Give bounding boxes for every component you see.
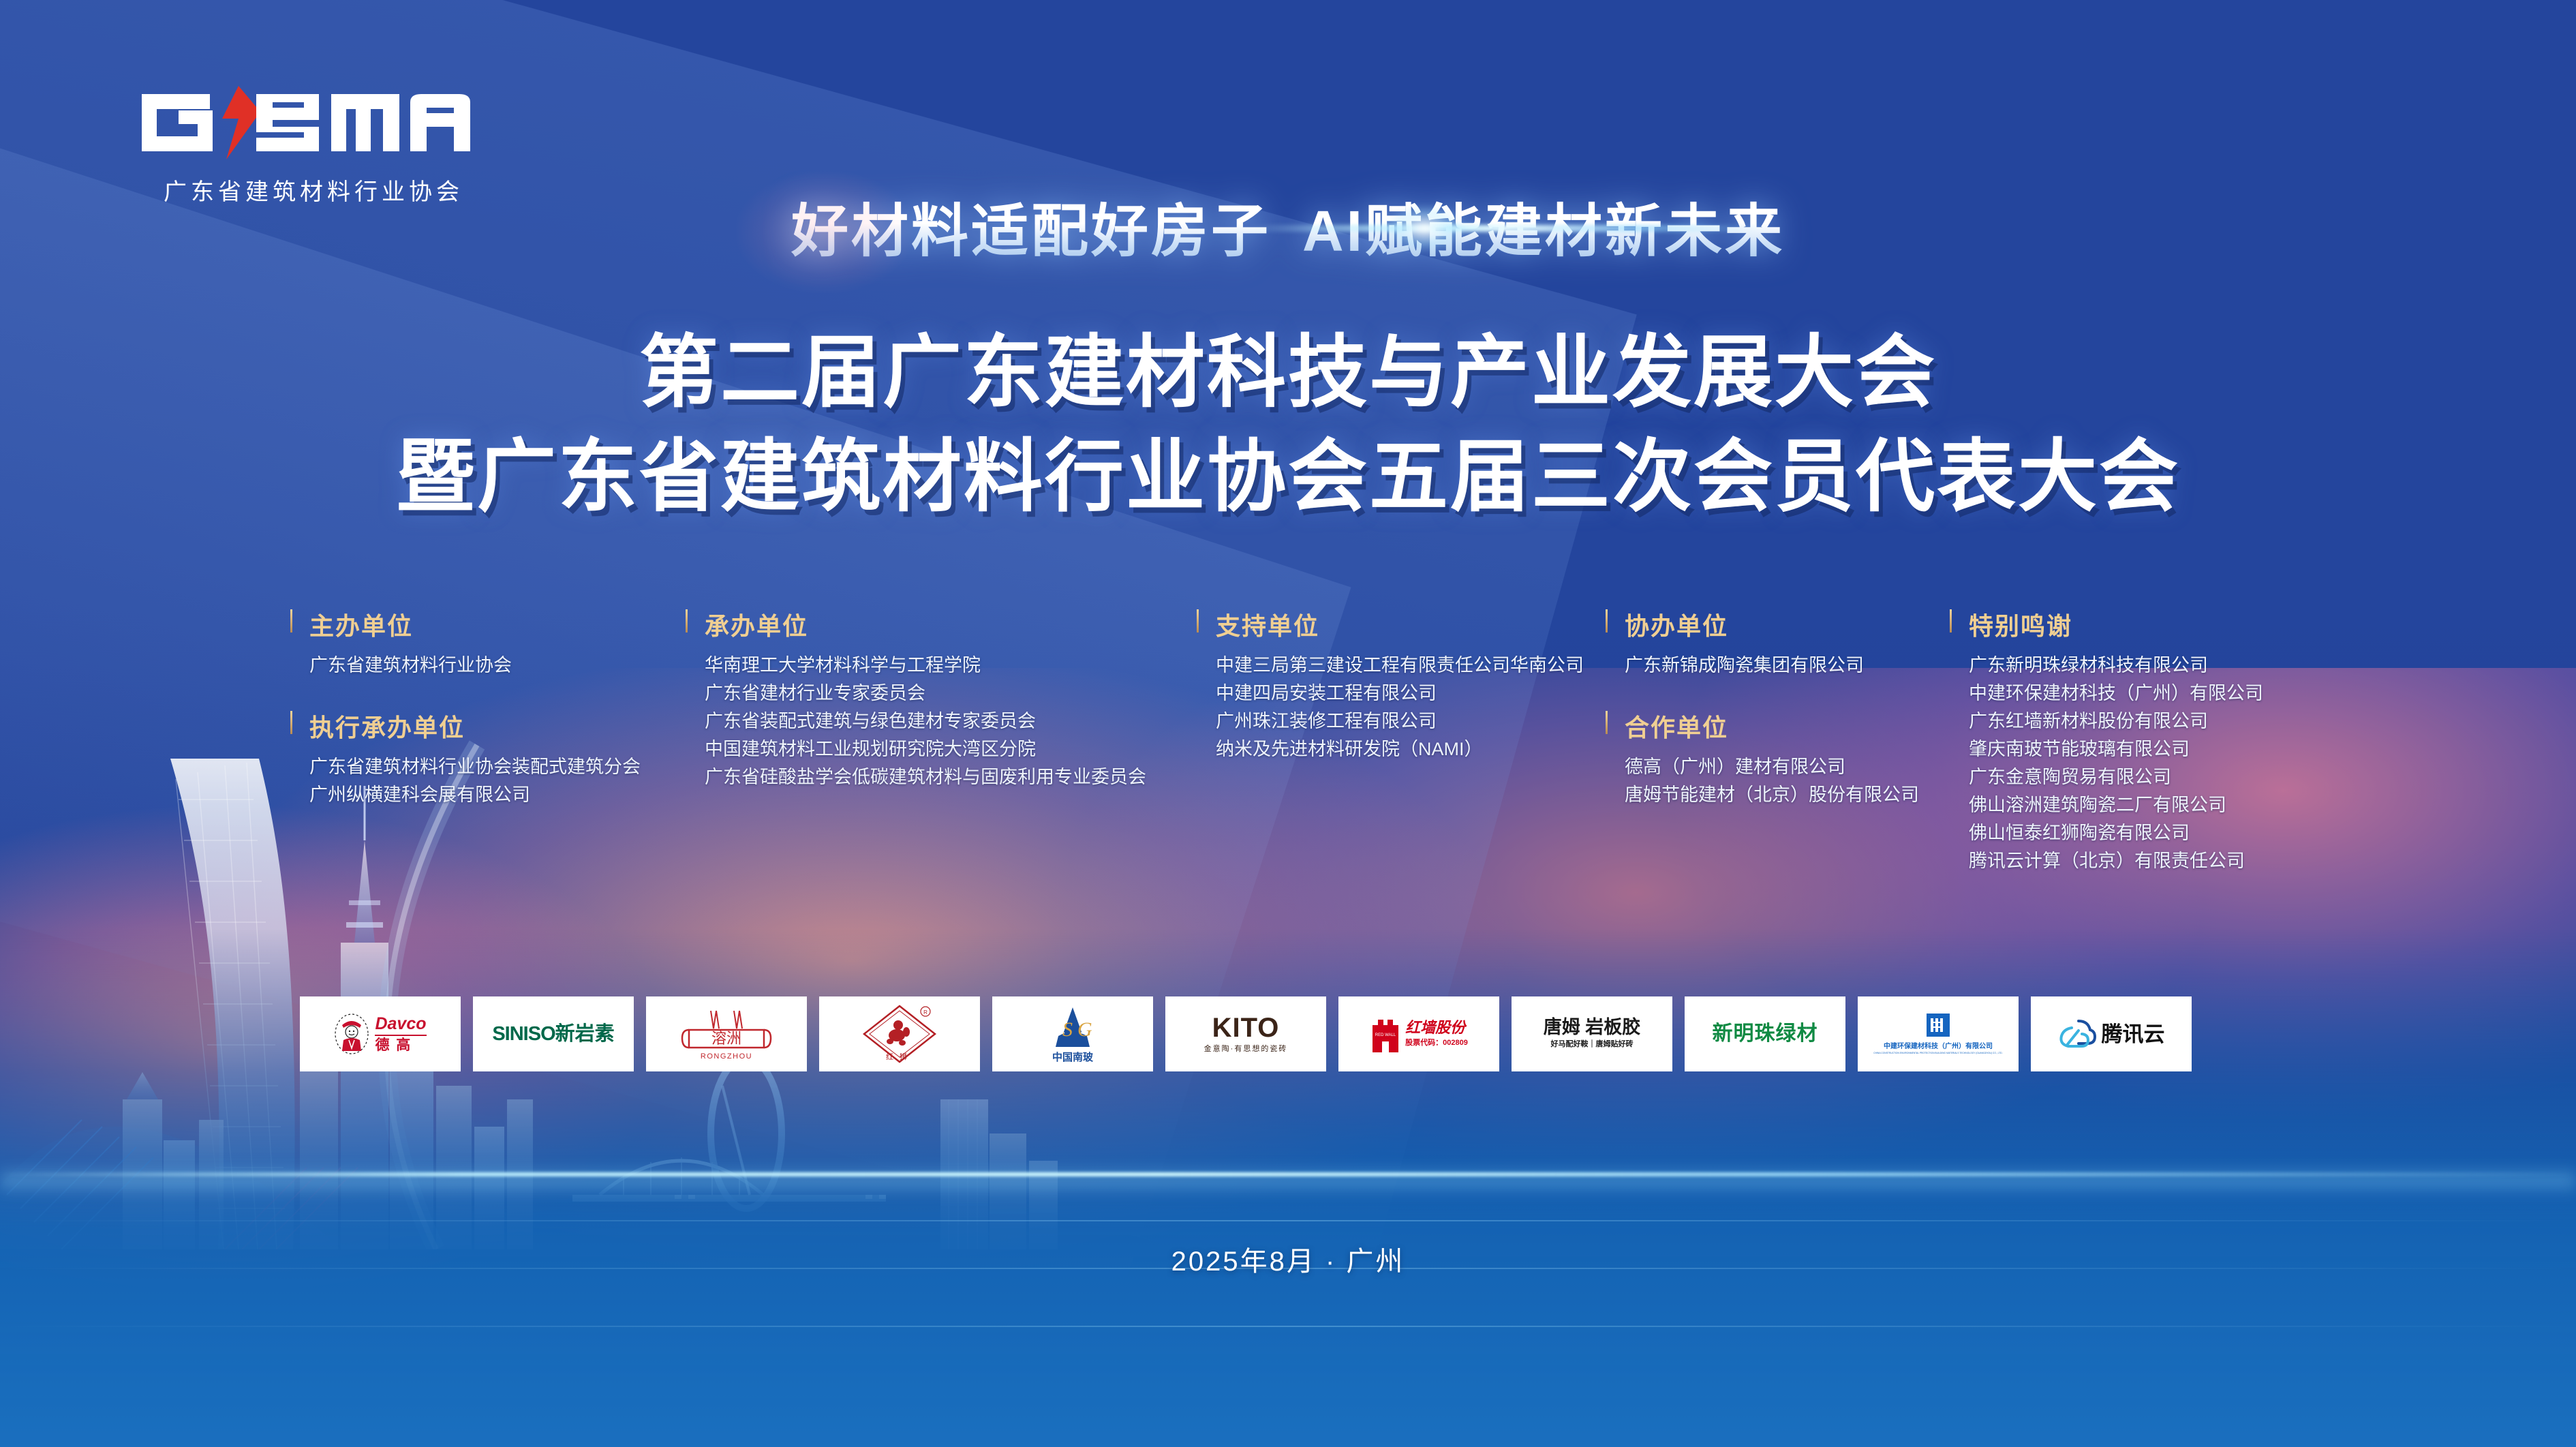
organizer-item: 广州珠江装修工程有限公司 [1216, 707, 1615, 735]
organizer-list: 广东新锦成陶瓷集团有限公司 [1601, 652, 1942, 680]
organizer-item: 广东省建材行业专家委员会 [705, 680, 1186, 707]
sponsor-logo-davco: Davco 德 高 [300, 996, 461, 1071]
organizer-item: 佛山溶洲建筑陶瓷二厂有限公司 [1969, 791, 2327, 819]
organizer-columns: 主办单位 广东省建筑材料行业协会 执行承办单位 广东省建筑材料行业协会装配式建筑… [0, 607, 2576, 900]
organizer-heading: 合作单位 [1601, 708, 1942, 744]
tagline-part-1: 好材料适配好房子 [791, 199, 1271, 263]
svg-text:R: R [923, 1009, 927, 1016]
sponsor-logo-text: Davco [375, 1016, 426, 1033]
organizer-list: 德高（广州）建材有限公司 唐姆节能建材（北京）股份有限公司 [1601, 753, 1942, 809]
hongshi-lion-emblem-icon: R 红狮 [859, 1002, 940, 1066]
tencent-cloud-icon [2058, 1018, 2096, 1050]
organizer-list: 广东新明珠绿材科技有限公司 中建环保建材科技（广州）有限公司 广东红墙新材料股份… [1946, 652, 2327, 875]
organizer-block-executor: 执行承办单位 广东省建筑材料行业协会装配式建筑分会 广州纵横建科会展有限公司 [286, 708, 668, 809]
redwall-castle-icon: RED WALL [1370, 1013, 1401, 1055]
organizer-column-3: 支持单位 中建三局第三建设工程有限责任公司华南公司 中建四局安装工程有限公司 广… [1193, 607, 1615, 792]
organizer-item: 唐姆节能建材（北京）股份有限公司 [1625, 781, 1942, 809]
organizer-item: 华南理工大学材料科学与工程学院 [705, 652, 1186, 680]
organizer-item: 中国建筑材料工业规划研究院大湾区分院 [705, 735, 1186, 763]
organizer-block-acknowledgement: 特别鸣谢 广东新明珠绿材科技有限公司 中建环保建材科技（广州）有限公司 广东红墙… [1946, 607, 2327, 875]
sponsor-logo-slogan: 金意陶·有思想的瓷砖 [1204, 1045, 1288, 1054]
organizer-list: 中建三局第三建设工程有限责任公司华南公司 中建四局安装工程有限公司 广州珠江装修… [1193, 652, 1615, 763]
gbma-logo-mark [136, 82, 491, 164]
davco-mascot-icon [334, 1013, 369, 1055]
organizer-item: 广东金意陶贸易有限公司 [1969, 763, 2327, 791]
organizer-item: 广东红墙新材料股份有限公司 [1969, 707, 2327, 735]
organizer-column-2: 承办单位 华南理工大学材料科学与工程学院 广东省建材行业专家委员会 广东省装配式… [681, 607, 1186, 820]
svg-text:RED WALL: RED WALL [1375, 1033, 1396, 1037]
svg-text:中国南玻: 中国南玻 [1052, 1051, 1094, 1063]
organizer-list: 华南理工大学材料科学与工程学院 广东省建材行业专家委员会 广东省装配式建筑与绿色… [681, 652, 1186, 791]
organizer-block-partner: 合作单位 德高（广州）建材有限公司 唐姆节能建材（北京）股份有限公司 [1601, 708, 1942, 809]
organizer-block-host: 主办单位 广东省建筑材料行业协会 [286, 607, 668, 680]
organizer-item: 中建三局第三建设工程有限责任公司华南公司 [1216, 652, 1615, 680]
organizer-block-supporter: 支持单位 中建三局第三建设工程有限责任公司华南公司 中建四局安装工程有限公司 广… [1193, 607, 1615, 763]
sponsor-logo-kito: KITO 金意陶·有思想的瓷砖 [1165, 996, 1326, 1071]
sponsor-logo-rongzhou: 溶洲 RONGZHOU [646, 996, 807, 1071]
horizon-glow-line [0, 1172, 2576, 1176]
organizer-list: 广东省建筑材料行业协会 [286, 652, 668, 680]
rongzhou-emblem-icon: 溶洲 RONGZHOU [675, 1005, 778, 1063]
sponsor-logo-tencent-cloud: 腾讯云 [2031, 996, 2192, 1071]
sponsor-logo-strip: Davco 德 高 SINISO新岩素 溶洲 RONGZHOU [300, 996, 2192, 1071]
svg-text:溶洲: 溶洲 [711, 1031, 741, 1048]
organizer-heading: 支持单位 [1193, 607, 1615, 642]
sponsor-logo-stock-code: 股票代码：002809 [1405, 1039, 1468, 1048]
organizer-item: 广东省装配式建筑与绿色建材专家委员会 [705, 707, 1186, 735]
organizer-item: 广东省硅酸盐学会低碳建筑材料与固废利用专业委员会 [705, 763, 1186, 791]
organizer-item: 广东新锦成陶瓷集团有限公司 [1625, 652, 1942, 680]
horizon-glow-halo [0, 1167, 2576, 1194]
organizer-item: 德高（广州）建材有限公司 [1625, 753, 1942, 781]
csg-icon: S G 中国南玻 [1035, 1003, 1110, 1065]
sponsor-logo-redwall: RED WALL 红墙股份 股票代码：002809 [1338, 996, 1499, 1071]
title-line-1: 第二届广东建材科技与产业发展大会 [0, 320, 2576, 425]
sponsor-logo-tangmu: 唐姆 岩板胶 好马配好鞍｜唐姆贴好砖 [1512, 996, 1672, 1071]
organizer-heading: 执行承办单位 [286, 708, 668, 744]
sponsor-logo-hongshi: R 红狮 [819, 996, 980, 1071]
organizer-item: 中建四局安装工程有限公司 [1216, 680, 1615, 707]
sponsor-logo-xinmingzhu: 新明珠绿材 [1685, 996, 1845, 1071]
conference-backdrop: 广东省建筑材料行业协会 好材料适配好房子AI赋能建材新未来 第二届广东建材科技与… [0, 0, 2576, 1447]
organizer-item: 广州纵横建科会展有限公司 [309, 781, 668, 809]
organizer-item: 腾讯云计算（北京）有限责任公司 [1969, 847, 2327, 875]
event-tagline: 好材料适配好房子AI赋能建材新未来 [0, 185, 2576, 268]
footer-date-location: 2025年8月 · 广州 [0, 1239, 2576, 1279]
svg-text:G: G [1077, 1018, 1092, 1041]
sponsor-logo-text: KITO [1212, 1014, 1280, 1041]
sponsor-logo-text: SINISO新岩素 [492, 1024, 614, 1044]
organizer-item: 佛山恒泰红狮陶瓷有限公司 [1969, 819, 2327, 847]
sponsor-logo-slogan: 好马配好鞍｜唐姆贴好砖 [1551, 1040, 1634, 1049]
svg-text:红狮: 红狮 [886, 1052, 913, 1061]
organizer-heading: 主办单位 [286, 607, 668, 642]
organizer-heading: 特别鸣谢 [1946, 607, 2327, 642]
water-reflection-line-3 [0, 1326, 2576, 1327]
svg-text:RONGZHOU: RONGZHOU [701, 1052, 752, 1061]
sponsor-logo-cn: 唐姆 岩板胶 [1544, 1018, 1641, 1037]
organizer-item: 肇庆南玻节能玻璃有限公司 [1969, 735, 2327, 763]
page-title: 第二届广东建材科技与产业发展大会 暨广东省建筑材料行业协会五届三次会员代表大会 [0, 320, 2576, 529]
sponsor-logo-cn: 腾讯云 [2102, 1024, 2165, 1045]
organizer-column-1: 主办单位 广东省建筑材料行业协会 执行承办单位 广东省建筑材料行业协会装配式建筑… [286, 607, 668, 838]
sponsor-logo-cn: 新明珠绿材 [1713, 1024, 1818, 1044]
organizer-heading: 协办单位 [1601, 607, 1942, 642]
organizer-block-coorganizer: 承办单位 华南理工大学材料科学与工程学院 广东省建材行业专家委员会 广东省装配式… [681, 607, 1186, 791]
organizer-column-4: 协办单位 广东新锦成陶瓷集团有限公司 合作单位 德高（广州）建材有限公司 唐姆节… [1601, 607, 1942, 838]
sponsor-logo-csg-nanbo: S G 中国南玻 [992, 996, 1153, 1071]
organizer-item: 纳米及先进材料研发院（NAMI） [1216, 735, 1615, 763]
organizer-item: 广东省建筑材料行业协会装配式建筑分会 [309, 753, 668, 781]
sponsor-logo-siniso: SINISO新岩素 [473, 996, 634, 1071]
tagline-part-2: AI赋能建材新未来 [1302, 199, 1785, 263]
title-line-2: 暨广东省建筑材料行业协会五届三次会员代表大会 [0, 425, 2576, 529]
organizer-item: 广东省建筑材料行业协会 [309, 652, 668, 680]
organizer-column-5: 特别鸣谢 广东新明珠绿材科技有限公司 中建环保建材科技（广州）有限公司 广东红墙… [1946, 607, 2327, 904]
water-reflection-line-1 [0, 1220, 2576, 1221]
sponsor-logo-cscec-env: 中建环保建材科技（广州）有限公司 CHINA CONSTRUCTION ENVI… [1858, 996, 2019, 1071]
sponsor-logo-cn: 红墙股份 [1405, 1020, 1468, 1035]
cscec-env-mark-icon [1927, 1014, 1950, 1037]
svg-text:S: S [1062, 1018, 1073, 1041]
organizer-block-assistant: 协办单位 广东新锦成陶瓷集团有限公司 [1601, 607, 1942, 680]
sponsor-logo-latin: CHINA CONSTRUCTION ENVIRONMENTAL PROTECT… [1873, 1052, 2002, 1054]
organizer-item: 中建环保建材科技（广州）有限公司 [1969, 680, 2327, 707]
sponsor-logo-cn: 德 高 [375, 1038, 426, 1052]
sponsor-logo-cn: 中建环保建材科技（广州）有限公司 [1884, 1040, 1993, 1050]
organizer-heading: 承办单位 [681, 607, 1186, 642]
organizer-list: 广东省建筑材料行业协会装配式建筑分会 广州纵横建科会展有限公司 [286, 753, 668, 809]
organizer-item: 广东新明珠绿材科技有限公司 [1969, 652, 2327, 680]
